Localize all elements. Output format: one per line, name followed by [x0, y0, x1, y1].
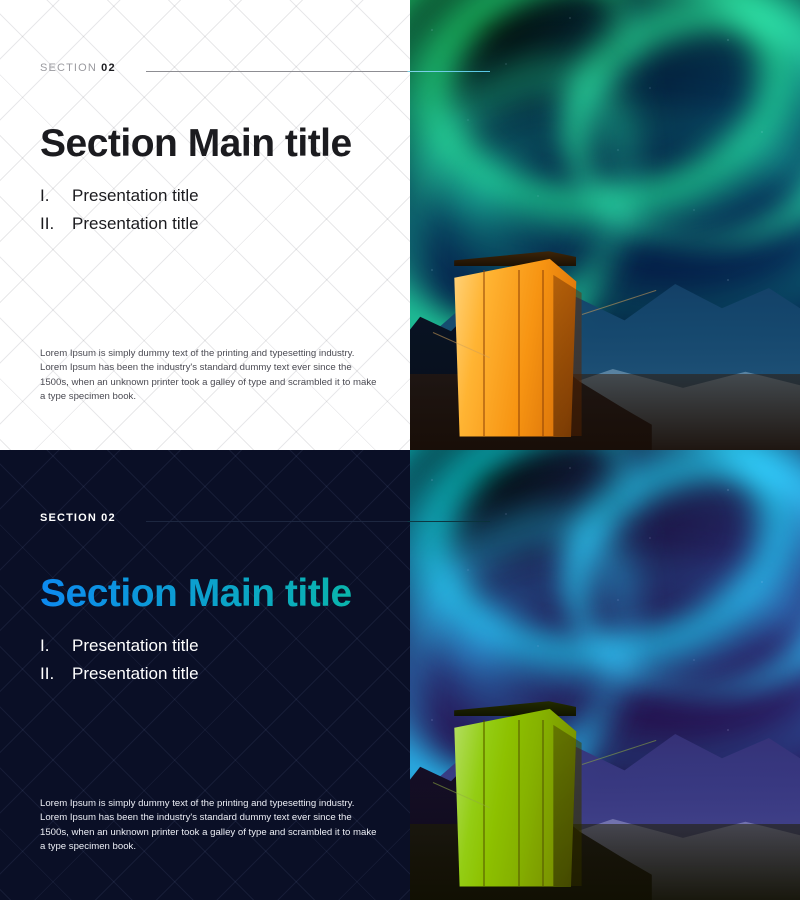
list-item-numeral: II.: [40, 660, 72, 688]
tent-seam: [542, 270, 544, 436]
tent-seam: [542, 720, 544, 886]
eyebrow-word: SECTION: [40, 512, 97, 524]
table-of-contents-light: I. Presentation title II. Presentation t…: [40, 182, 199, 238]
list-item[interactable]: II. Presentation title: [40, 210, 199, 238]
list-item-numeral: I.: [40, 632, 72, 660]
header-rule-light: [146, 71, 490, 72]
list-item-numeral: I.: [40, 182, 72, 210]
tent-seam: [518, 270, 520, 436]
slide-headline-light: Section Main title: [40, 124, 352, 165]
list-item[interactable]: I. Presentation title: [40, 632, 199, 660]
header-rule-dark: [146, 521, 490, 522]
table-of-contents-dark: I. Presentation title II. Presentation t…: [40, 632, 199, 688]
tent-seam: [483, 720, 485, 886]
slide-blurb-light: Lorem Ipsum is simply dummy text of the …: [40, 347, 380, 405]
eyebrow-word: SECTION: [40, 62, 97, 74]
list-item[interactable]: I. Presentation title: [40, 182, 199, 210]
eyebrow-number: 02: [101, 62, 116, 74]
section-eyebrow-light: SECTION 02: [40, 62, 116, 74]
section-eyebrow-dark: SECTION 02: [40, 512, 116, 524]
list-item-label: Presentation title: [72, 632, 199, 660]
slide-light[interactable]: SECTION 02 Section Main title I. Present…: [0, 0, 800, 450]
aurora-photo-dark: [410, 450, 800, 900]
slide-blurb-dark: Lorem Ipsum is simply dummy text of the …: [40, 797, 380, 855]
slide-dark[interactable]: SECTION 02 Section Main title I. Present…: [0, 450, 800, 900]
tent-ridgepole: [452, 701, 577, 716]
list-item-label: Presentation title: [72, 660, 199, 688]
list-item-numeral: II.: [40, 210, 72, 238]
slide-deck: SECTION 02 Section Main title I. Present…: [0, 0, 800, 900]
eyebrow-number: 02: [101, 512, 116, 524]
tent-seam: [518, 720, 520, 886]
tent-ridgepole: [452, 251, 577, 266]
aurora-photo-light: [410, 0, 800, 450]
list-item-label: Presentation title: [72, 210, 199, 238]
list-item-label: Presentation title: [72, 182, 199, 210]
tent-seam: [483, 270, 485, 436]
illuminated-tent: [449, 698, 582, 887]
illuminated-tent: [449, 248, 582, 437]
slide-headline-dark: Section Main title: [40, 574, 352, 615]
list-item[interactable]: II. Presentation title: [40, 660, 199, 688]
